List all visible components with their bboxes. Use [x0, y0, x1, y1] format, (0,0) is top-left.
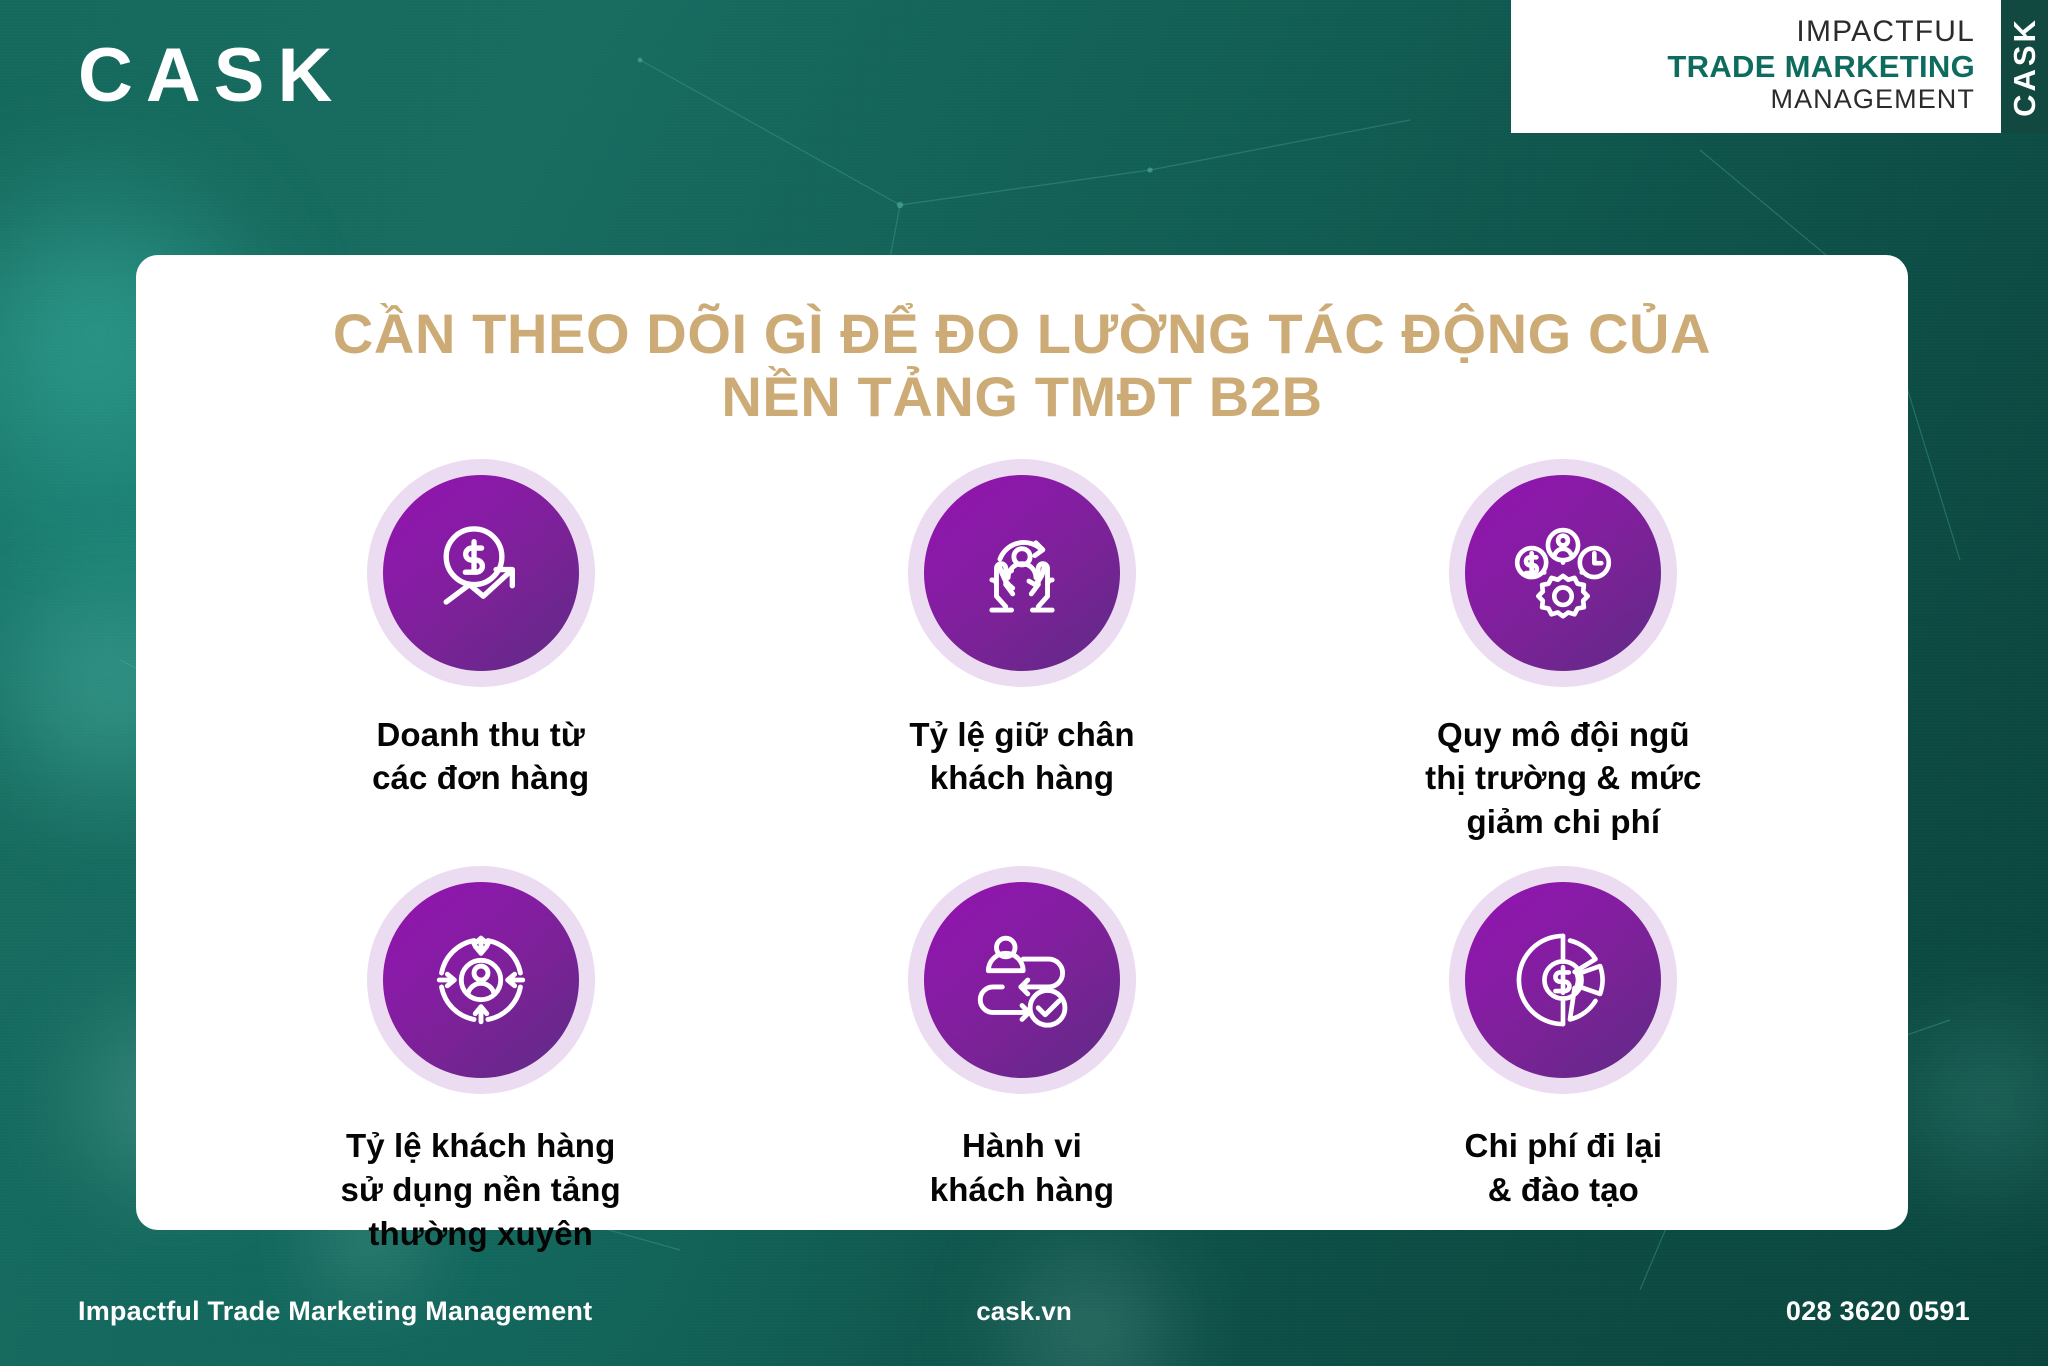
icon-ring	[367, 866, 595, 1094]
customer-retention-hands-icon	[964, 515, 1080, 631]
metric-label: Doanh thu từcác đơn hàng	[372, 713, 589, 801]
revenue-growth-icon	[423, 515, 539, 631]
icon-disc	[1465, 882, 1661, 1078]
metric-item: Chi phí đi lại& đào tạo	[1293, 866, 1834, 1256]
icon-disc	[383, 475, 579, 671]
metric-label: Tỷ lệ giữ chânkhách hàng	[909, 713, 1134, 801]
page-title-line1: CẦN THEO DÕI GÌ ĐỂ ĐO LƯỜNG TÁC ĐỘNG CỦA	[333, 302, 1711, 365]
metric-label: Hành vikhách hàng	[930, 1124, 1114, 1212]
customer-journey-icon	[964, 922, 1080, 1038]
team-resources-gear-icon	[1505, 515, 1621, 631]
metric-item: Quy mô đội ngũthị trường & mứcgiảm chi p…	[1293, 459, 1834, 845]
badge-vertical-cask-tab: CASK	[2001, 0, 2048, 133]
icon-ring	[367, 459, 595, 687]
page-title-line2: NỀN TẢNG TMĐT B2B	[206, 365, 1838, 428]
badge-line-management: MANAGEMENT	[1770, 84, 1975, 115]
icon-disc	[383, 882, 579, 1078]
cask-logo: CASK	[78, 38, 345, 114]
badge-line-trade-marketing: TRADE MARKETING	[1667, 49, 1975, 84]
recurring-usage-cycle-icon	[423, 922, 539, 1038]
footer-phone[interactable]: 028 3620 0591	[1786, 1296, 1970, 1327]
footer-website[interactable]: cask.vn	[976, 1296, 1071, 1327]
footer-program-name: Impactful Trade Marketing Management	[78, 1296, 592, 1327]
metric-label: Chi phí đi lại& đào tạo	[1465, 1124, 1663, 1212]
icon-disc	[924, 882, 1120, 1078]
cost-pie-chart-icon	[1505, 922, 1621, 1038]
icon-ring	[1449, 866, 1677, 1094]
metric-item: Tỷ lệ giữ chânkhách hàng	[751, 459, 1292, 845]
icon-ring	[908, 866, 1136, 1094]
page-title: CẦN THEO DÕI GÌ ĐỂ ĐO LƯỜNG TÁC ĐỘNG CỦA…	[136, 255, 1908, 429]
metrics-grid: Doanh thu từcác đơn hàng	[136, 459, 1908, 1256]
content-card: CẦN THEO DÕI GÌ ĐỂ ĐO LƯỜNG TÁC ĐỘNG CỦA…	[136, 255, 1908, 1230]
footer: Impactful Trade Marketing Management cas…	[0, 1256, 2048, 1366]
icon-disc	[1465, 475, 1661, 671]
program-badge-text: IMPACTFUL TRADE MARKETING MANAGEMENT	[1511, 0, 2001, 133]
program-badge: IMPACTFUL TRADE MARKETING MANAGEMENT CAS…	[1511, 0, 2048, 133]
metric-label: Tỷ lệ khách hàngsử dụng nền tảngthường x…	[341, 1124, 621, 1256]
metric-label: Quy mô đội ngũthị trường & mứcgiảm chi p…	[1425, 713, 1701, 845]
metric-item: Doanh thu từcác đơn hàng	[210, 459, 751, 845]
badge-line-impactful: IMPACTFUL	[1796, 15, 1975, 49]
metric-item: Hành vikhách hàng	[751, 866, 1292, 1256]
badge-vertical-cask-text: CASK	[2007, 17, 2043, 117]
icon-ring	[908, 459, 1136, 687]
metric-item: Tỷ lệ khách hàngsử dụng nền tảngthường x…	[210, 866, 751, 1256]
icon-disc	[924, 475, 1120, 671]
icon-ring	[1449, 459, 1677, 687]
